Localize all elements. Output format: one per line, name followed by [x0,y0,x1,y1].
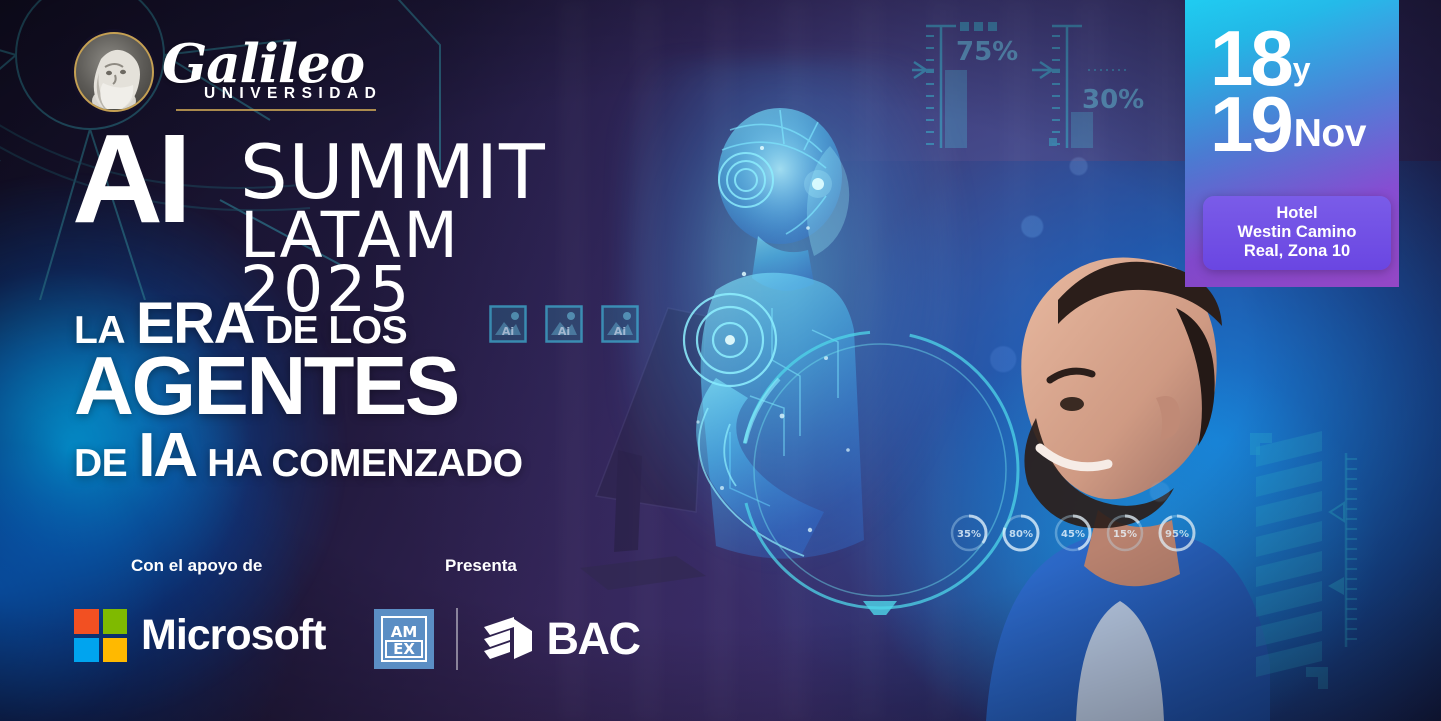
date-conjunction: y [1293,53,1311,85]
title-ai: AI [72,130,186,228]
logo-underline [176,109,376,111]
university-subtitle: UNIVERSIDAD [204,85,382,103]
support-label: Con el apoyo de [131,556,262,576]
tagline-line-3: DE IA HA COMENZADO [74,426,523,486]
ms-square-green [103,609,128,634]
venue-line-3: Real, Zona 10 [1209,242,1385,261]
tagline-agentes: AGENTES [74,339,458,432]
date-month: Nov [1294,114,1366,153]
title-summit: SUMMIT [240,142,546,204]
date-row-second: 19 Nov [1210,92,1366,157]
amex-line-2: EX [393,640,415,658]
bac-mark-icon [480,613,538,665]
tagline-line-2: AGENTES [74,348,523,424]
bac-wordmark: BAC [547,613,640,665]
bac-logo: BAC [480,613,640,665]
microsoft-wordmark: Microsoft [141,611,326,660]
ms-square-yellow [103,638,128,663]
ai-summit-banner: 75% 30% Ai Ai Ai [0,0,1441,721]
tagline-ia: IA [138,426,196,486]
presents-label: Presenta [445,556,517,576]
presenter-logos: AM EX BAC [374,608,640,670]
venue-line-2: Westin Camino [1209,223,1385,242]
tagline-ha-comenzado: HA COMENZADO [207,445,522,482]
sponsor-divider [456,608,458,670]
date-block: 18 y 19 Nov [1204,20,1394,200]
amex-line-1: AM [391,623,418,641]
ms-square-red [74,609,99,634]
date-day-2: 19 [1210,92,1291,157]
ms-square-blue [74,638,99,663]
venue-line-1: Hotel [1209,204,1385,223]
event-tagline: LA ERA DE LOS AGENTES DE IA HA COMENZADO [74,296,523,486]
university-name: Galileo [162,41,382,89]
galileo-logo: Galileo UNIVERSIDAD [74,32,382,112]
amex-mark-icon: AM EX [381,616,427,662]
tagline-de: DE [74,445,127,482]
microsoft-squares-icon [74,609,127,662]
amex-logo: AM EX [374,609,434,669]
microsoft-logo: Microsoft [74,609,326,662]
galileo-medallion [74,32,154,112]
venue-badge: Hotel Westin Camino Real, Zona 10 [1203,196,1391,270]
galileo-wordmark: Galileo UNIVERSIDAD [162,41,382,103]
galileo-bust-icon [81,39,147,109]
title-summit-wrap: SUMMIT LATAM 2025 [240,142,546,317]
